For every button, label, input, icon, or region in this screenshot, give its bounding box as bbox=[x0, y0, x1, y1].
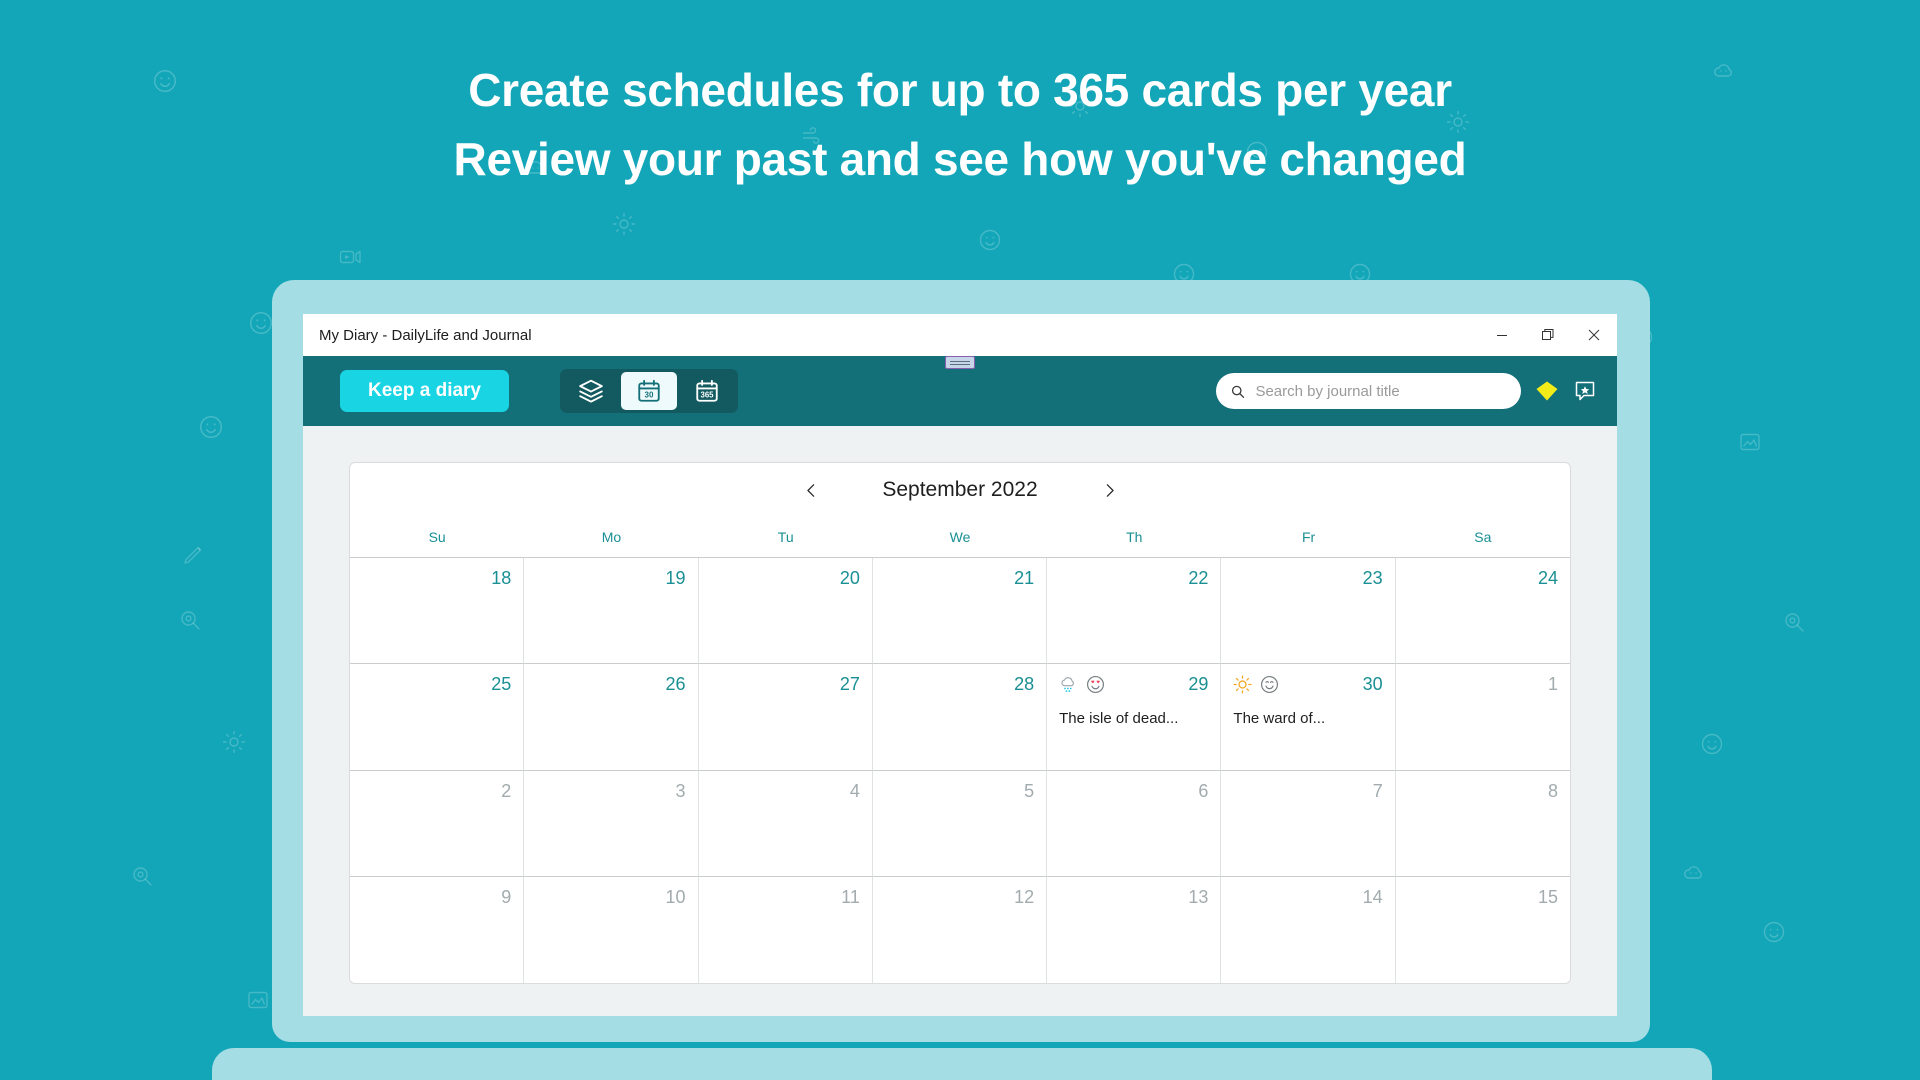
search-input[interactable] bbox=[1255, 383, 1507, 400]
promo-headline-line2: Review your past and see how you've chan… bbox=[0, 125, 1920, 194]
calendar-day-number: 24 bbox=[1538, 569, 1558, 587]
calendar-365-icon: 365 bbox=[694, 378, 720, 404]
calendar-day-number: 14 bbox=[1363, 888, 1383, 906]
calendar-day-number: 25 bbox=[491, 675, 511, 693]
calendar-day-top: 8 bbox=[1408, 780, 1558, 802]
calendar-day-number: 30 bbox=[1363, 675, 1383, 693]
smiley-icon bbox=[1700, 732, 1724, 756]
search-icon bbox=[178, 608, 202, 632]
calendar-day-top: 22 bbox=[1059, 567, 1208, 589]
calendar-day-cell[interactable]: 14 bbox=[1221, 877, 1395, 983]
heart-eyes-face-icon bbox=[1086, 675, 1105, 694]
svg-text:365: 365 bbox=[700, 391, 714, 400]
decoration-smiley-icon bbox=[198, 414, 224, 440]
calendar-day-top: 27 bbox=[711, 673, 860, 695]
promo-headline-line1: Create schedules for up to 365 cards per… bbox=[468, 64, 1452, 116]
calendar-day-number: 2 bbox=[501, 782, 511, 800]
sun-icon bbox=[612, 212, 636, 236]
weekday-label-th: Th bbox=[1047, 517, 1221, 557]
calendar-day-cell[interactable]: 30The ward of... bbox=[1221, 664, 1395, 770]
decoration-sun-icon bbox=[612, 212, 636, 236]
smiley-icon bbox=[248, 310, 274, 336]
premium-gem-icon[interactable] bbox=[1535, 380, 1559, 402]
window-titlebar: My Diary - DailyLife and Journal bbox=[303, 314, 1617, 356]
calendar-day-number: 23 bbox=[1363, 569, 1383, 587]
restore-button[interactable] bbox=[1525, 314, 1571, 356]
calendar-day-cell[interactable]: 5 bbox=[873, 771, 1047, 877]
calendar-day-cell[interactable]: 15 bbox=[1396, 877, 1570, 983]
keep-a-diary-button[interactable]: Keep a diary bbox=[340, 370, 509, 412]
star-badge-button[interactable] bbox=[1573, 379, 1597, 403]
decoration-smiley-icon bbox=[978, 228, 1002, 252]
decoration-cloud-icon bbox=[1682, 860, 1706, 884]
close-icon bbox=[1588, 329, 1600, 341]
calendar-entry-title[interactable]: The isle of dead... bbox=[1059, 710, 1208, 727]
star-badge-icon bbox=[1573, 379, 1597, 403]
calendar-day-icons bbox=[1233, 675, 1279, 694]
calendar-day-number: 4 bbox=[850, 782, 860, 800]
calendar-weekday-header: SuMoTuWeThFrSa bbox=[350, 517, 1570, 557]
calendar-day-number: 12 bbox=[1014, 888, 1034, 906]
calendar-card: September 2022 SuMoTuWeThFrSa 1819202122… bbox=[349, 462, 1571, 984]
calendar-day-top: 26 bbox=[536, 673, 685, 695]
calendar-day-top: 12 bbox=[885, 886, 1034, 908]
calendar-30-icon: 30 bbox=[636, 378, 662, 404]
calendar-day-number: 22 bbox=[1188, 569, 1208, 587]
image-icon bbox=[246, 988, 270, 1012]
calendar-day-number: 5 bbox=[1024, 782, 1034, 800]
svg-text:30: 30 bbox=[645, 391, 654, 400]
video-icon bbox=[338, 245, 362, 269]
calendar-day-top: 9 bbox=[362, 886, 511, 908]
calendar-day-cell[interactable]: 23 bbox=[1221, 558, 1395, 664]
calendar-day-top: 11 bbox=[711, 886, 860, 908]
search-box[interactable] bbox=[1216, 373, 1521, 409]
app-toolbar: Keep a diary 30 bbox=[303, 356, 1617, 426]
decoration-search-icon bbox=[130, 864, 154, 888]
calendar-day-top: 1 bbox=[1408, 673, 1558, 695]
calendar-day-number: 19 bbox=[666, 569, 686, 587]
calendar-day-top: 29 bbox=[1059, 673, 1208, 695]
search-icon bbox=[1782, 610, 1806, 634]
calendar-day-cell[interactable]: 22 bbox=[1047, 558, 1221, 664]
minimize-icon bbox=[1496, 329, 1508, 341]
calendar-day-number: 28 bbox=[1014, 675, 1034, 693]
calendar-day-cell[interactable]: 18 bbox=[350, 558, 524, 664]
weekday-label-tu: Tu bbox=[699, 517, 873, 557]
calendar-day-number: 3 bbox=[676, 782, 686, 800]
calendar-day-number: 26 bbox=[666, 675, 686, 693]
calendar-month-title: September 2022 bbox=[860, 478, 1060, 502]
calendar-day-number: 1 bbox=[1548, 675, 1558, 693]
calendar-day-number: 9 bbox=[501, 888, 511, 906]
calendar-day-top: 23 bbox=[1233, 567, 1382, 589]
app-window: My Diary - DailyLife and Journal bbox=[303, 314, 1617, 1016]
calendar-day-top: 6 bbox=[1059, 780, 1208, 802]
view-switcher: 30 365 bbox=[560, 369, 738, 413]
calendar-day-top: 2 bbox=[362, 780, 511, 802]
gem-icon bbox=[1535, 380, 1559, 402]
decoration-image-icon bbox=[246, 988, 270, 1012]
window-controls bbox=[1479, 314, 1617, 356]
calendar-day-cell[interactable]: 3 bbox=[524, 771, 698, 877]
smiley-icon bbox=[1762, 920, 1786, 944]
calendar-day-number: 6 bbox=[1198, 782, 1208, 800]
decoration-smiley-icon bbox=[1762, 920, 1786, 944]
calendar-day-top: 30 bbox=[1233, 673, 1382, 695]
calendar-day-top: 10 bbox=[536, 886, 685, 908]
decoration-sun-icon bbox=[222, 730, 246, 754]
view-button-cards[interactable] bbox=[563, 372, 619, 410]
snow-cloud-icon bbox=[1059, 675, 1078, 694]
calendar-day-cell[interactable]: 13 bbox=[1047, 877, 1221, 983]
calendar-day-cell[interactable]: 7 bbox=[1221, 771, 1395, 877]
calendar-day-cell[interactable]: 1 bbox=[1396, 664, 1570, 770]
calendar-day-cell[interactable]: 28 bbox=[873, 664, 1047, 770]
calendar-day-number: 20 bbox=[840, 569, 860, 587]
calendar-day-top: 24 bbox=[1408, 567, 1558, 589]
calendar-day-cell[interactable]: 2 bbox=[350, 771, 524, 877]
search-icon bbox=[130, 864, 154, 888]
device-frame-lower bbox=[212, 1048, 1712, 1080]
app-content-area: September 2022 SuMoTuWeThFrSa 1819202122… bbox=[303, 426, 1617, 1016]
calendar-day-cell[interactable]: 25 bbox=[350, 664, 524, 770]
calendar-day-top: 7 bbox=[1233, 780, 1382, 802]
calendar-day-top: 13 bbox=[1059, 886, 1208, 908]
drag-handle-line bbox=[950, 364, 970, 365]
view-button-year[interactable]: 365 bbox=[679, 372, 735, 410]
calendar-header: September 2022 bbox=[350, 463, 1570, 517]
calendar-day-number: 11 bbox=[841, 888, 860, 906]
decoration-smiley-icon bbox=[1700, 732, 1724, 756]
smiley-icon bbox=[978, 228, 1002, 252]
calendar-day-cell[interactable]: 9 bbox=[350, 877, 524, 983]
calendar-day-number: 27 bbox=[840, 675, 860, 693]
next-month-button[interactable] bbox=[1094, 475, 1124, 505]
calendar-day-icons bbox=[1059, 675, 1105, 694]
calendar-day-top: 3 bbox=[536, 780, 685, 802]
search-icon bbox=[1230, 383, 1245, 400]
calendar-day-top: 28 bbox=[885, 673, 1034, 695]
decoration-search-icon bbox=[178, 608, 202, 632]
calendar-day-cell[interactable]: 8 bbox=[1396, 771, 1570, 877]
chevron-right-icon bbox=[1101, 482, 1118, 499]
layers-icon bbox=[578, 378, 604, 404]
calendar-day-cell[interactable]: 20 bbox=[699, 558, 873, 664]
smiley-face-icon bbox=[1260, 675, 1279, 694]
minimize-button[interactable] bbox=[1479, 314, 1525, 356]
calendar-day-number: 21 bbox=[1014, 569, 1034, 587]
calendar-entry-title[interactable]: The ward of... bbox=[1233, 710, 1382, 727]
calendar-day-number: 29 bbox=[1188, 675, 1208, 693]
weekday-label-fr: Fr bbox=[1221, 517, 1395, 557]
calendar-day-number: 15 bbox=[1538, 888, 1558, 906]
restore-icon bbox=[1542, 329, 1554, 341]
calendar-day-number: 8 bbox=[1548, 782, 1558, 800]
calendar-day-cell[interactable]: 26 bbox=[524, 664, 698, 770]
calendar-day-number: 7 bbox=[1373, 782, 1383, 800]
calendar-day-number: 10 bbox=[666, 888, 686, 906]
calendar-day-top: 25 bbox=[362, 673, 511, 695]
sun-icon bbox=[222, 730, 246, 754]
calendar-day-top: 20 bbox=[711, 567, 860, 589]
promo-headline: Create schedules for up to 365 cards per… bbox=[0, 56, 1920, 194]
calendar-day-cell[interactable]: 4 bbox=[699, 771, 873, 877]
calendar-day-cell[interactable]: 11 bbox=[699, 877, 873, 983]
weekday-label-we: We bbox=[873, 517, 1047, 557]
calendar-day-number: 18 bbox=[491, 569, 511, 587]
decoration-search-icon bbox=[1782, 610, 1806, 634]
weekday-label-su: Su bbox=[350, 517, 524, 557]
window-title: My Diary - DailyLife and Journal bbox=[303, 327, 1479, 344]
prev-month-button[interactable] bbox=[796, 475, 826, 505]
sun-icon bbox=[1233, 675, 1252, 694]
calendar-day-cell[interactable]: 27 bbox=[699, 664, 873, 770]
drag-handle-line bbox=[950, 361, 970, 362]
smiley-icon bbox=[198, 414, 224, 440]
calendar-grid: 181920212223242526272829The isle of dead… bbox=[350, 557, 1570, 983]
calendar-day-top: 15 bbox=[1408, 886, 1558, 908]
calendar-day-cell[interactable]: 19 bbox=[524, 558, 698, 664]
calendar-day-top: 19 bbox=[536, 567, 685, 589]
weekday-label-mo: Mo bbox=[524, 517, 698, 557]
view-button-month[interactable]: 30 bbox=[621, 372, 677, 410]
calendar-day-top: 14 bbox=[1233, 886, 1382, 908]
calendar-day-cell[interactable]: 24 bbox=[1396, 558, 1570, 664]
calendar-day-top: 4 bbox=[711, 780, 860, 802]
weekday-label-sa: Sa bbox=[1396, 517, 1570, 557]
calendar-day-number: 13 bbox=[1188, 888, 1208, 906]
calendar-day-cell[interactable]: 29The isle of dead... bbox=[1047, 664, 1221, 770]
image-icon bbox=[1738, 430, 1762, 454]
close-button[interactable] bbox=[1571, 314, 1617, 356]
calendar-day-cell[interactable]: 10 bbox=[524, 877, 698, 983]
decoration-pen-icon bbox=[182, 542, 206, 566]
toolbar-right-group bbox=[1216, 373, 1597, 409]
calendar-day-cell[interactable]: 12 bbox=[873, 877, 1047, 983]
calendar-day-cell[interactable]: 6 bbox=[1047, 771, 1221, 877]
chevron-left-icon bbox=[803, 482, 820, 499]
window-drag-handle[interactable] bbox=[945, 356, 975, 369]
calendar-day-top: 18 bbox=[362, 567, 511, 589]
decoration-video-icon bbox=[338, 245, 362, 269]
pen-icon bbox=[182, 542, 206, 566]
decoration-smiley-icon bbox=[248, 310, 274, 336]
cloud-icon bbox=[1682, 860, 1706, 884]
calendar-day-cell[interactable]: 21 bbox=[873, 558, 1047, 664]
calendar-day-top: 5 bbox=[885, 780, 1034, 802]
decoration-image-icon bbox=[1738, 430, 1762, 454]
calendar-day-top: 21 bbox=[885, 567, 1034, 589]
